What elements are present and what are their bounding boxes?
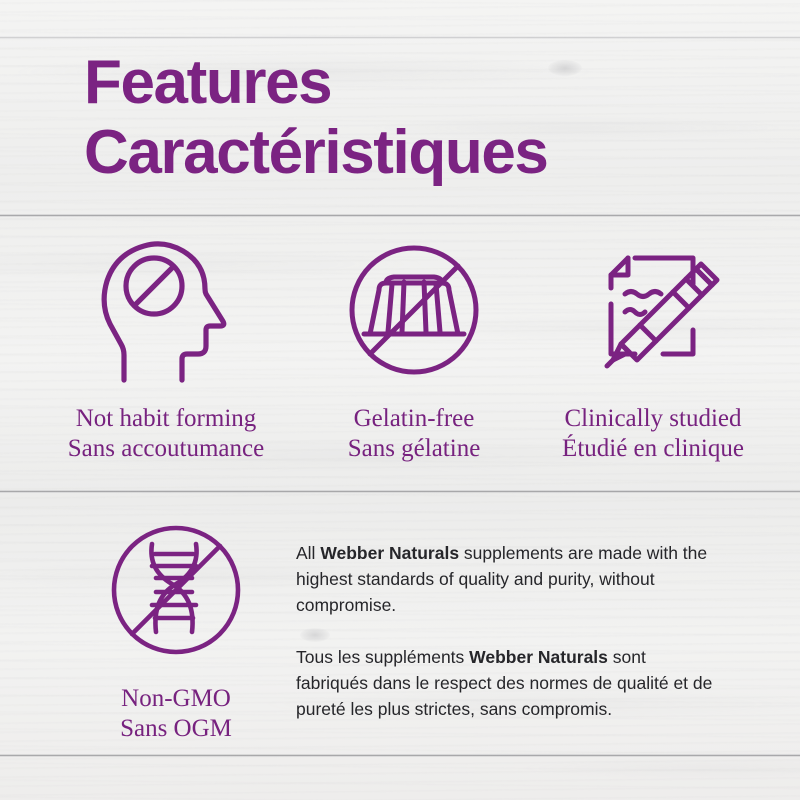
feature-panel: Features Caractéristiques Not habit form… (0, 0, 800, 800)
feature-label-en: Clinically studied (520, 404, 786, 434)
feature-item-non-gmo: Non-GMO Sans OGM (62, 512, 290, 744)
no-gelatin-mold-icon (316, 232, 512, 392)
feature-label-en: Not habit forming (18, 404, 314, 434)
plank-seam-1 (0, 214, 800, 217)
body-copy-en-prefix: All (296, 543, 320, 563)
body-copy: All Webber Naturals supplements are made… (296, 540, 716, 722)
feature-label-en: Non-GMO (62, 684, 290, 714)
feature-caption: Clinically studied Étudié en clinique (520, 404, 786, 464)
brand-name: Webber Naturals (469, 647, 608, 667)
feature-label-fr: Sans accoutumance (18, 434, 314, 464)
feature-item-not-habit-forming: Not habit forming Sans accoutumance (18, 232, 314, 464)
feature-caption: Not habit forming Sans accoutumance (18, 404, 314, 464)
feature-label-fr: Sans gélatine (316, 434, 512, 464)
document-and-pen-icon (520, 232, 786, 392)
plank-seam-3 (0, 754, 800, 757)
feature-item-clinically-studied: Clinically studied Étudié en clinique (520, 232, 786, 464)
feature-label-en: Gelatin-free (316, 404, 512, 434)
no-dna-helix-icon (62, 512, 290, 672)
body-copy-fr-prefix: Tous les suppléments (296, 647, 469, 667)
head-no-symbol-icon (18, 232, 314, 392)
body-copy-fr: Tous les suppléments Webber Naturals son… (296, 644, 716, 722)
page-title-en: Features (84, 48, 744, 118)
plank-seam-0 (0, 36, 800, 39)
body-copy-en: All Webber Naturals supplements are made… (296, 540, 716, 618)
feature-caption: Non-GMO Sans OGM (62, 684, 290, 744)
feature-caption: Gelatin-free Sans gélatine (316, 404, 512, 464)
feature-label-fr: Étudié en clinique (520, 434, 786, 464)
brand-name: Webber Naturals (320, 543, 459, 563)
page-title-fr: Caractéristiques (84, 118, 744, 188)
plank-seam-2 (0, 490, 800, 493)
page-title: Features Caractéristiques (84, 48, 744, 188)
feature-item-gelatin-free: Gelatin-free Sans gélatine (316, 232, 512, 464)
feature-label-fr: Sans OGM (62, 714, 290, 744)
